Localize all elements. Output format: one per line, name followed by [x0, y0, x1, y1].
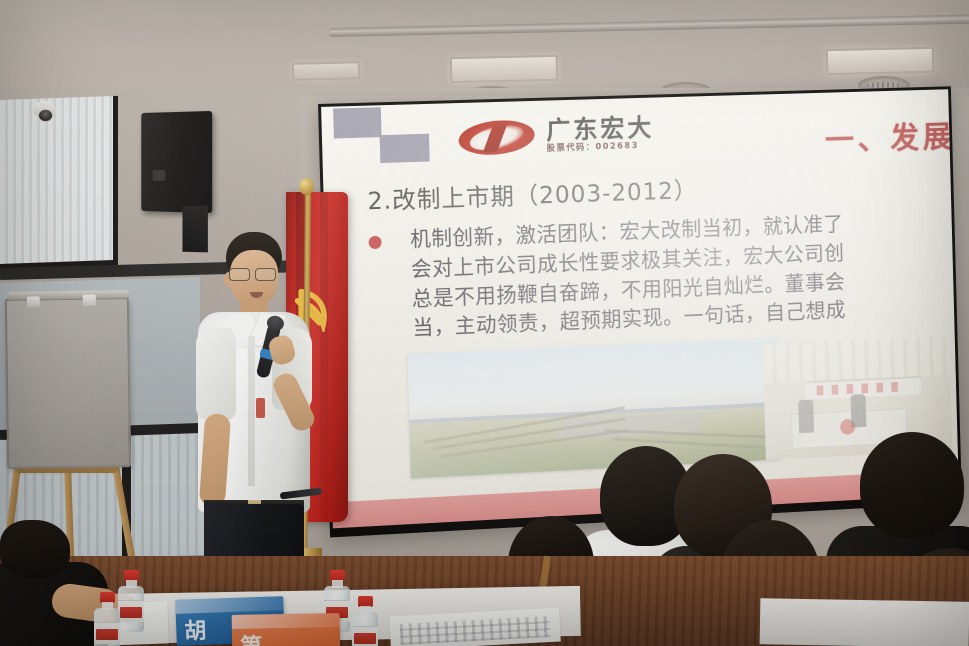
placard-header-bar: [175, 596, 283, 614]
bottle-label: [94, 622, 120, 644]
window-blinds-upper: [0, 96, 118, 270]
bullet-marker-icon: [368, 236, 381, 249]
placard-name: 第: [240, 628, 263, 646]
tablecloth-right: [760, 598, 969, 646]
bottle-label: [352, 626, 378, 646]
water-bottle: [94, 592, 120, 646]
hongda-swoosh-logo-icon: [457, 117, 536, 158]
water-bottle: [118, 570, 144, 632]
slide-accent-square: [380, 134, 430, 163]
photo-figure: [851, 394, 867, 428]
company-logo: 广东宏大 股票代码：002683: [458, 115, 655, 156]
placard-name: 胡: [184, 613, 207, 646]
name-placard-orange: 第: [232, 613, 341, 646]
bottle-label: [118, 600, 144, 622]
flag-finial: [299, 178, 314, 195]
presenter-shirt-placket: [248, 336, 255, 486]
placard-header-bar: [232, 613, 340, 629]
presenter-sleeve-left: [196, 328, 236, 420]
audience-head: [860, 432, 964, 538]
photo-figure: [798, 399, 814, 433]
eyeglasses-icon: [229, 268, 279, 279]
wall-speaker: [141, 111, 212, 213]
flag-fold: [320, 192, 328, 522]
bullet-text: 机制创新，激活团队：宏大改制当初，就认准了 会对上市公司成长性要求极其关注，宏大…: [410, 203, 959, 344]
ceiling-light-panel: [450, 55, 559, 83]
logo-text-block: 广东宏大 股票代码：002683: [546, 115, 655, 153]
stock-code: 股票代码：002683: [547, 142, 655, 154]
board-clip: [83, 295, 96, 306]
slide-section-title: 一、发展: [824, 112, 955, 159]
board-clip: [27, 296, 40, 307]
company-name: 广东宏大: [546, 115, 655, 143]
conference-photo-scene: 广东宏大 股票代码：002683 一、发展 2.改制上市期（2003-2012）…: [0, 0, 969, 646]
slide-bullet-block: 机制创新，激活团队：宏大改制当初，就认准了 会对上市公司成长性要求极其关注，宏大…: [368, 203, 959, 346]
dome-security-camera-icon: [33, 101, 56, 115]
water-bottle: [352, 596, 378, 646]
photo-ceiling: [763, 335, 951, 383]
slide-heading: 2.改制上市期（2003-2012）: [367, 171, 698, 217]
ceiling-light-panel: [826, 47, 935, 75]
presenter-badge: [256, 398, 265, 418]
slide-accent-square: [333, 107, 382, 138]
flipchart-board: [5, 297, 131, 469]
audience-head: [0, 520, 70, 578]
ceiling-light-panel: [292, 61, 360, 81]
